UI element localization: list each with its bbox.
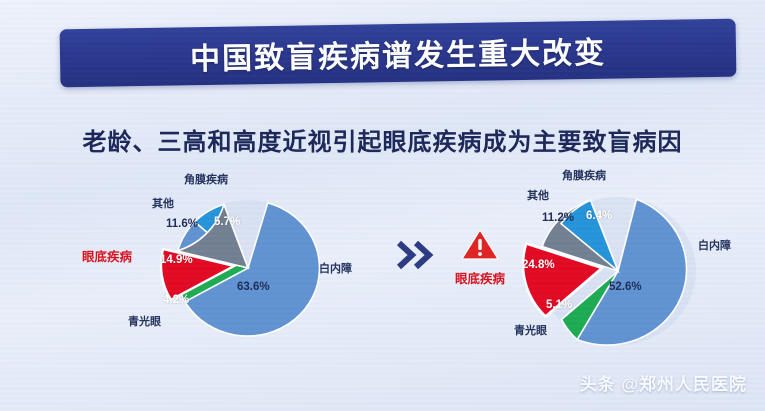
double-chevron-right-icon [396, 240, 436, 275]
value-cataract: 52.6% [609, 281, 642, 293]
label-glaucoma: 青光眼 [128, 316, 161, 328]
page-title: 中国致盲疾病谱发生重大改变 [190, 28, 607, 79]
charts-area: 角膜疾病 其他 白内障 青光眼 眼底疾病 63.6% 5.7% 11.6% 14… [0, 168, 765, 368]
pie-chart-before: 角膜疾病 其他 白内障 青光眼 眼底疾病 63.6% 5.7% 11.6% 14… [130, 168, 380, 358]
warning-callout: 眼底疾病 [449, 228, 511, 287]
slide-photo: 中国致盲疾病谱发生重大改变 老龄、三高和高度近视引起眼底疾病成为主要致盲病因 [0, 0, 765, 411]
label-glaucoma: 青光眼 [514, 325, 547, 337]
value-other: 11.6% [166, 218, 198, 230]
value-fundus: 14.9% [160, 254, 193, 266]
pie-chart-after: 角膜疾病 其他 白内障 青光眼 52.6% 6.4% 11.2% 24.8% 5… [500, 168, 750, 363]
label-cornea: 角膜疾病 [184, 174, 228, 186]
value-cornea: 6.4% [586, 210, 612, 222]
label-other: 其他 [152, 198, 174, 210]
title-banner: 中国致盲疾病谱发生重大改变 [60, 19, 737, 88]
value-glaucoma: 5.1% [546, 299, 572, 311]
value-cornea: 5.7% [214, 216, 240, 228]
watermark: 头条 @郑州人民医院 [580, 370, 747, 395]
label-cataract: 白内障 [698, 240, 731, 252]
label-cornea: 角膜疾病 [562, 170, 606, 182]
slide-subtitle: 老龄、三高和高度近视引起眼底疾病成为主要致盲病因 [0, 122, 765, 157]
value-glaucoma: 4.2% [163, 294, 189, 306]
value-fundus: 24.8% [522, 259, 555, 271]
label-other: 其他 [527, 190, 549, 202]
value-cataract: 63.6% [237, 281, 270, 293]
label-fundus: 眼底疾病 [82, 251, 132, 265]
warning-label: 眼底疾病 [449, 268, 511, 287]
warning-triangle-icon [460, 228, 500, 262]
value-other: 11.2% [542, 212, 574, 224]
label-cataract: 白内障 [319, 263, 352, 275]
